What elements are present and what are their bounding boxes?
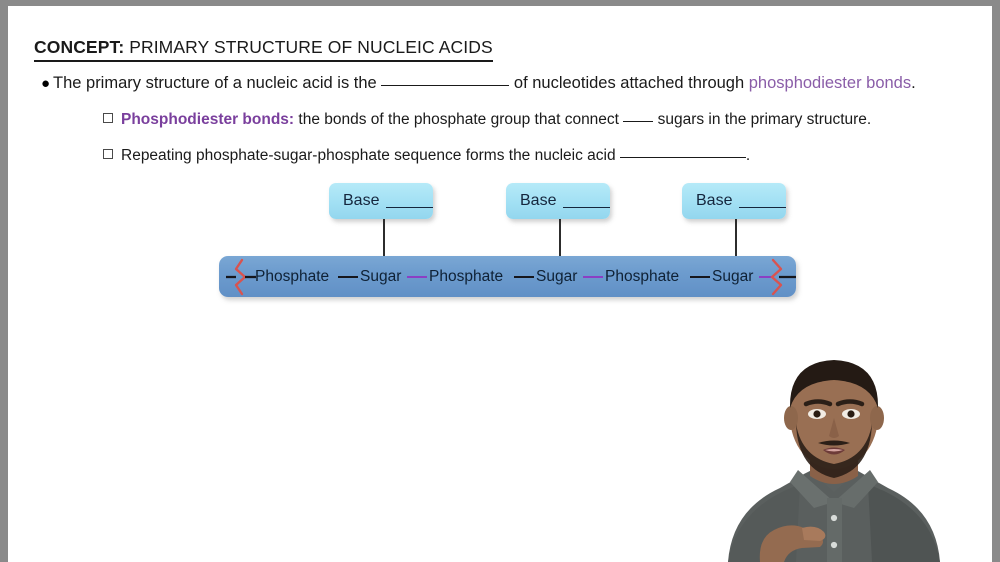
term-phosphodiester-bonds-link[interactable]: phosphodiester bonds — [749, 74, 911, 92]
chain-continues-right-icon — [765, 258, 797, 296]
backbone-label-sugar-1: Sugar — [360, 268, 401, 286]
backbone-label-phosphate-3: Phosphate — [605, 268, 679, 286]
bond-sugar3-continuation — [759, 276, 771, 278]
bullet-repeating-sequence: Repeating phosphate-sugar-phosphate sequ… — [103, 147, 750, 165]
bullet-marker-square-icon — [103, 113, 113, 123]
sugar-phosphate-backbone-bar — [219, 256, 796, 297]
backbone-label-phosphate-2: Phosphate — [429, 268, 503, 286]
bond-phosphate2-sugar2 — [514, 276, 534, 278]
bullet-primary-structure: ●The primary structure of a nucleic acid… — [41, 74, 916, 93]
page-title: CONCEPT: PRIMARY STRUCTURE OF NUCLEIC AC… — [34, 37, 493, 62]
bullet-1-period: . — [911, 74, 916, 92]
bullet-phosphodiester-definition: Phosphodiester bonds: the bonds of the p… — [103, 111, 871, 129]
backbone-label-sugar-3: Sugar — [712, 268, 753, 286]
fill-in-blank-3[interactable] — [620, 157, 746, 158]
bond-sugar1-phosphate2 — [407, 276, 427, 278]
bond-phosphate1-sugar1 — [338, 276, 358, 278]
stem-base-1-to-sugar-1 — [383, 219, 385, 267]
page-title-text: PRIMARY STRUCTURE OF NUCLEIC ACIDS — [124, 37, 492, 57]
base-label-1: Base — [343, 192, 379, 210]
bullet-1-text-b: of nucleotides attached through — [509, 74, 748, 92]
bond-phosphate3-sugar3 — [690, 276, 710, 278]
bullet-3-text-a: Repeating phosphate-sugar-phosphate sequ… — [121, 147, 620, 164]
slide-canvas: CONCEPT: PRIMARY STRUCTURE OF NUCLEIC AC… — [8, 6, 992, 562]
bullet-1-text-a: The primary structure of a nucleic acid … — [53, 74, 381, 92]
term-phosphodiester-bonds-heading: Phosphodiester bonds: — [121, 111, 294, 128]
instructor-figure — [684, 342, 960, 562]
base-label-3: Base — [696, 192, 732, 210]
fill-in-blank-2[interactable] — [623, 121, 653, 122]
base-box-1: Base — [329, 183, 433, 219]
instructor-video-overlay[interactable] — [684, 342, 960, 562]
chain-continues-left-icon — [226, 258, 256, 296]
bullet-marker-square-icon — [103, 149, 113, 159]
backbone-label-sugar-2: Sugar — [536, 268, 577, 286]
base-box-2: Base — [506, 183, 610, 219]
bullet-2-text-a: the bonds of the phosphate group that co… — [294, 111, 623, 128]
base-blank-1[interactable] — [386, 195, 433, 208]
page-title-keyword: CONCEPT: — [34, 37, 124, 57]
bond-sugar2-phosphate3 — [583, 276, 603, 278]
base-blank-3[interactable] — [739, 195, 786, 208]
base-label-2: Base — [520, 192, 556, 210]
fill-in-blank-1[interactable] — [381, 85, 509, 86]
backbone-label-phosphate-1: Phosphate — [255, 268, 329, 286]
base-blank-2[interactable] — [563, 195, 610, 208]
bullet-3-period: . — [746, 147, 750, 164]
stem-base-2-to-sugar-2 — [559, 219, 561, 267]
base-box-3: Base — [682, 183, 786, 219]
stem-base-3-to-sugar-3 — [735, 219, 737, 267]
bullet-marker-dot: ● — [41, 75, 53, 92]
bullet-2-text-b: sugars in the primary structure. — [653, 111, 871, 128]
